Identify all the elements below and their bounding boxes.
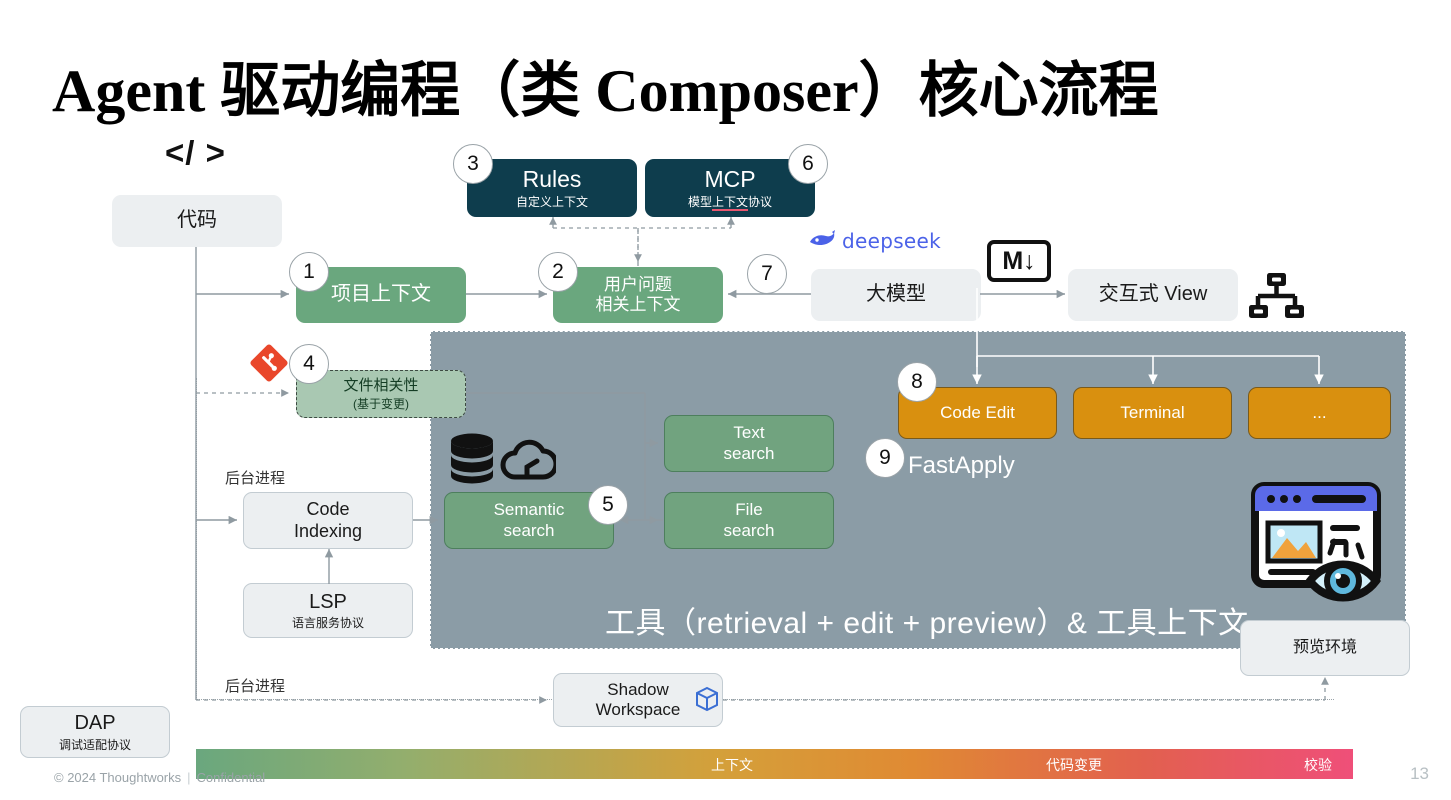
markdown-label: M↓ [1002, 249, 1035, 274]
step-marker-4: 4 [289, 344, 329, 384]
rules-box-label: Rules [523, 166, 582, 193]
cube-icon [694, 686, 720, 717]
phase-label-code-change: 代码变更 [1046, 755, 1102, 775]
text-search-box[interactable]: Text search [664, 415, 834, 472]
preview-browser-icon [1250, 481, 1390, 612]
preview-env-box[interactable]: 预览环境 [1240, 620, 1410, 676]
user-question-line1: 用户问题 [604, 275, 672, 295]
footer-confidential: Confidential [197, 770, 266, 785]
step-marker-2: 2 [538, 252, 578, 292]
code-indexing-line1: Code [306, 499, 349, 520]
phase-gradient-bar: 上下文 代码变更 校验 [196, 749, 1353, 779]
database-icon [448, 432, 496, 489]
deepseek-logo: deepseek [808, 229, 941, 253]
file-search-line2: search [723, 521, 774, 541]
file-search-line1: File [735, 500, 762, 520]
file-relevance-sublabel: (基于变更) [353, 397, 409, 411]
code-indexing-line2: Indexing [294, 521, 362, 542]
background-process-label-bottom: 后台进程 [225, 675, 285, 696]
step-marker-9: 9 [865, 438, 905, 478]
footer-separator: | [187, 770, 190, 785]
mcp-sub-pre: 模型 [688, 195, 712, 209]
deepseek-whale-icon [808, 229, 838, 253]
llm-box[interactable]: 大模型 [811, 269, 981, 321]
semantic-search-line1: Semantic [494, 500, 565, 520]
deepseek-label: deepseek [842, 229, 941, 253]
dap-box[interactable]: DAP 调试适配协议 [20, 706, 170, 758]
lsp-box-label: LSP [309, 591, 347, 615]
footer: © 2024 Thoughtworks|Confidential [54, 770, 265, 785]
sitemap-icon [1248, 272, 1304, 335]
code-box-label: 代码 [177, 209, 217, 233]
code-edit-label: Code Edit [940, 403, 1015, 423]
shadow-workspace-line1: Shadow [607, 680, 668, 700]
mcp-sub-highlight: 上下文 [712, 195, 748, 211]
page-title: Agent 驱动编程（类 Composer）核心流程 [52, 42, 1159, 129]
step-marker-8: 8 [897, 362, 937, 402]
step-marker-6: 6 [788, 144, 828, 184]
shadow-workspace-line2: Workspace [596, 700, 681, 720]
fastapply-label: FastApply [908, 452, 1015, 480]
page-number: 13 [1410, 764, 1429, 784]
lsp-box[interactable]: LSP 语言服务协议 [243, 583, 413, 638]
preview-env-label: 预览环境 [1293, 639, 1357, 658]
text-search-line1: Text [733, 423, 764, 443]
phase-label-verify: 校验 [1304, 755, 1332, 775]
text-search-line2: search [723, 444, 774, 464]
background-process-label-top: 后台进程 [225, 467, 285, 488]
user-question-line2: 相关上下文 [596, 295, 681, 315]
llm-box-label: 大模型 [866, 283, 926, 307]
lsp-box-sublabel: 语言服务协议 [292, 616, 364, 630]
markdown-icon: M↓ [987, 240, 1051, 282]
semantic-search-line2: search [503, 521, 554, 541]
dap-box-label: DAP [74, 712, 115, 736]
slide-canvas: Agent 驱动编程（类 Composer）核心流程 工具（retrieval … [0, 0, 1451, 800]
terminal-label: Terminal [1120, 403, 1184, 423]
file-relevance-label: 文件相关性 [343, 377, 418, 395]
mcp-box-label: MCP [704, 166, 755, 193]
user-question-context-box[interactable]: 用户问题 相关上下文 [553, 267, 723, 323]
step-marker-7: 7 [747, 254, 787, 294]
interactive-view-box[interactable]: 交互式 View [1068, 269, 1238, 321]
cloud-icon [500, 437, 556, 486]
step-marker-3: 3 [453, 144, 493, 184]
code-indexing-box[interactable]: Code Indexing [243, 492, 413, 549]
code-brackets-icon: </ > [165, 134, 226, 172]
more-tools-box[interactable]: ... [1248, 387, 1391, 439]
file-search-box[interactable]: File search [664, 492, 834, 549]
code-box[interactable]: 代码 [112, 195, 282, 247]
git-icon [246, 340, 292, 391]
step-marker-5: 5 [588, 485, 628, 525]
mcp-box-sublabel: 模型上下文协议 [688, 195, 772, 209]
more-tools-label: ... [1312, 403, 1326, 423]
footer-copyright: © 2024 Thoughtworks [54, 770, 181, 785]
terminal-box[interactable]: Terminal [1073, 387, 1232, 439]
step-marker-1: 1 [289, 252, 329, 292]
mcp-sub-post: 协议 [748, 195, 772, 209]
dap-box-sublabel: 调试适配协议 [59, 738, 131, 752]
phase-label-context: 上下文 [711, 755, 753, 775]
rules-box-sublabel: 自定义上下文 [516, 195, 588, 209]
interactive-view-label: 交互式 View [1099, 283, 1208, 307]
project-context-label: 项目上下文 [331, 283, 431, 307]
